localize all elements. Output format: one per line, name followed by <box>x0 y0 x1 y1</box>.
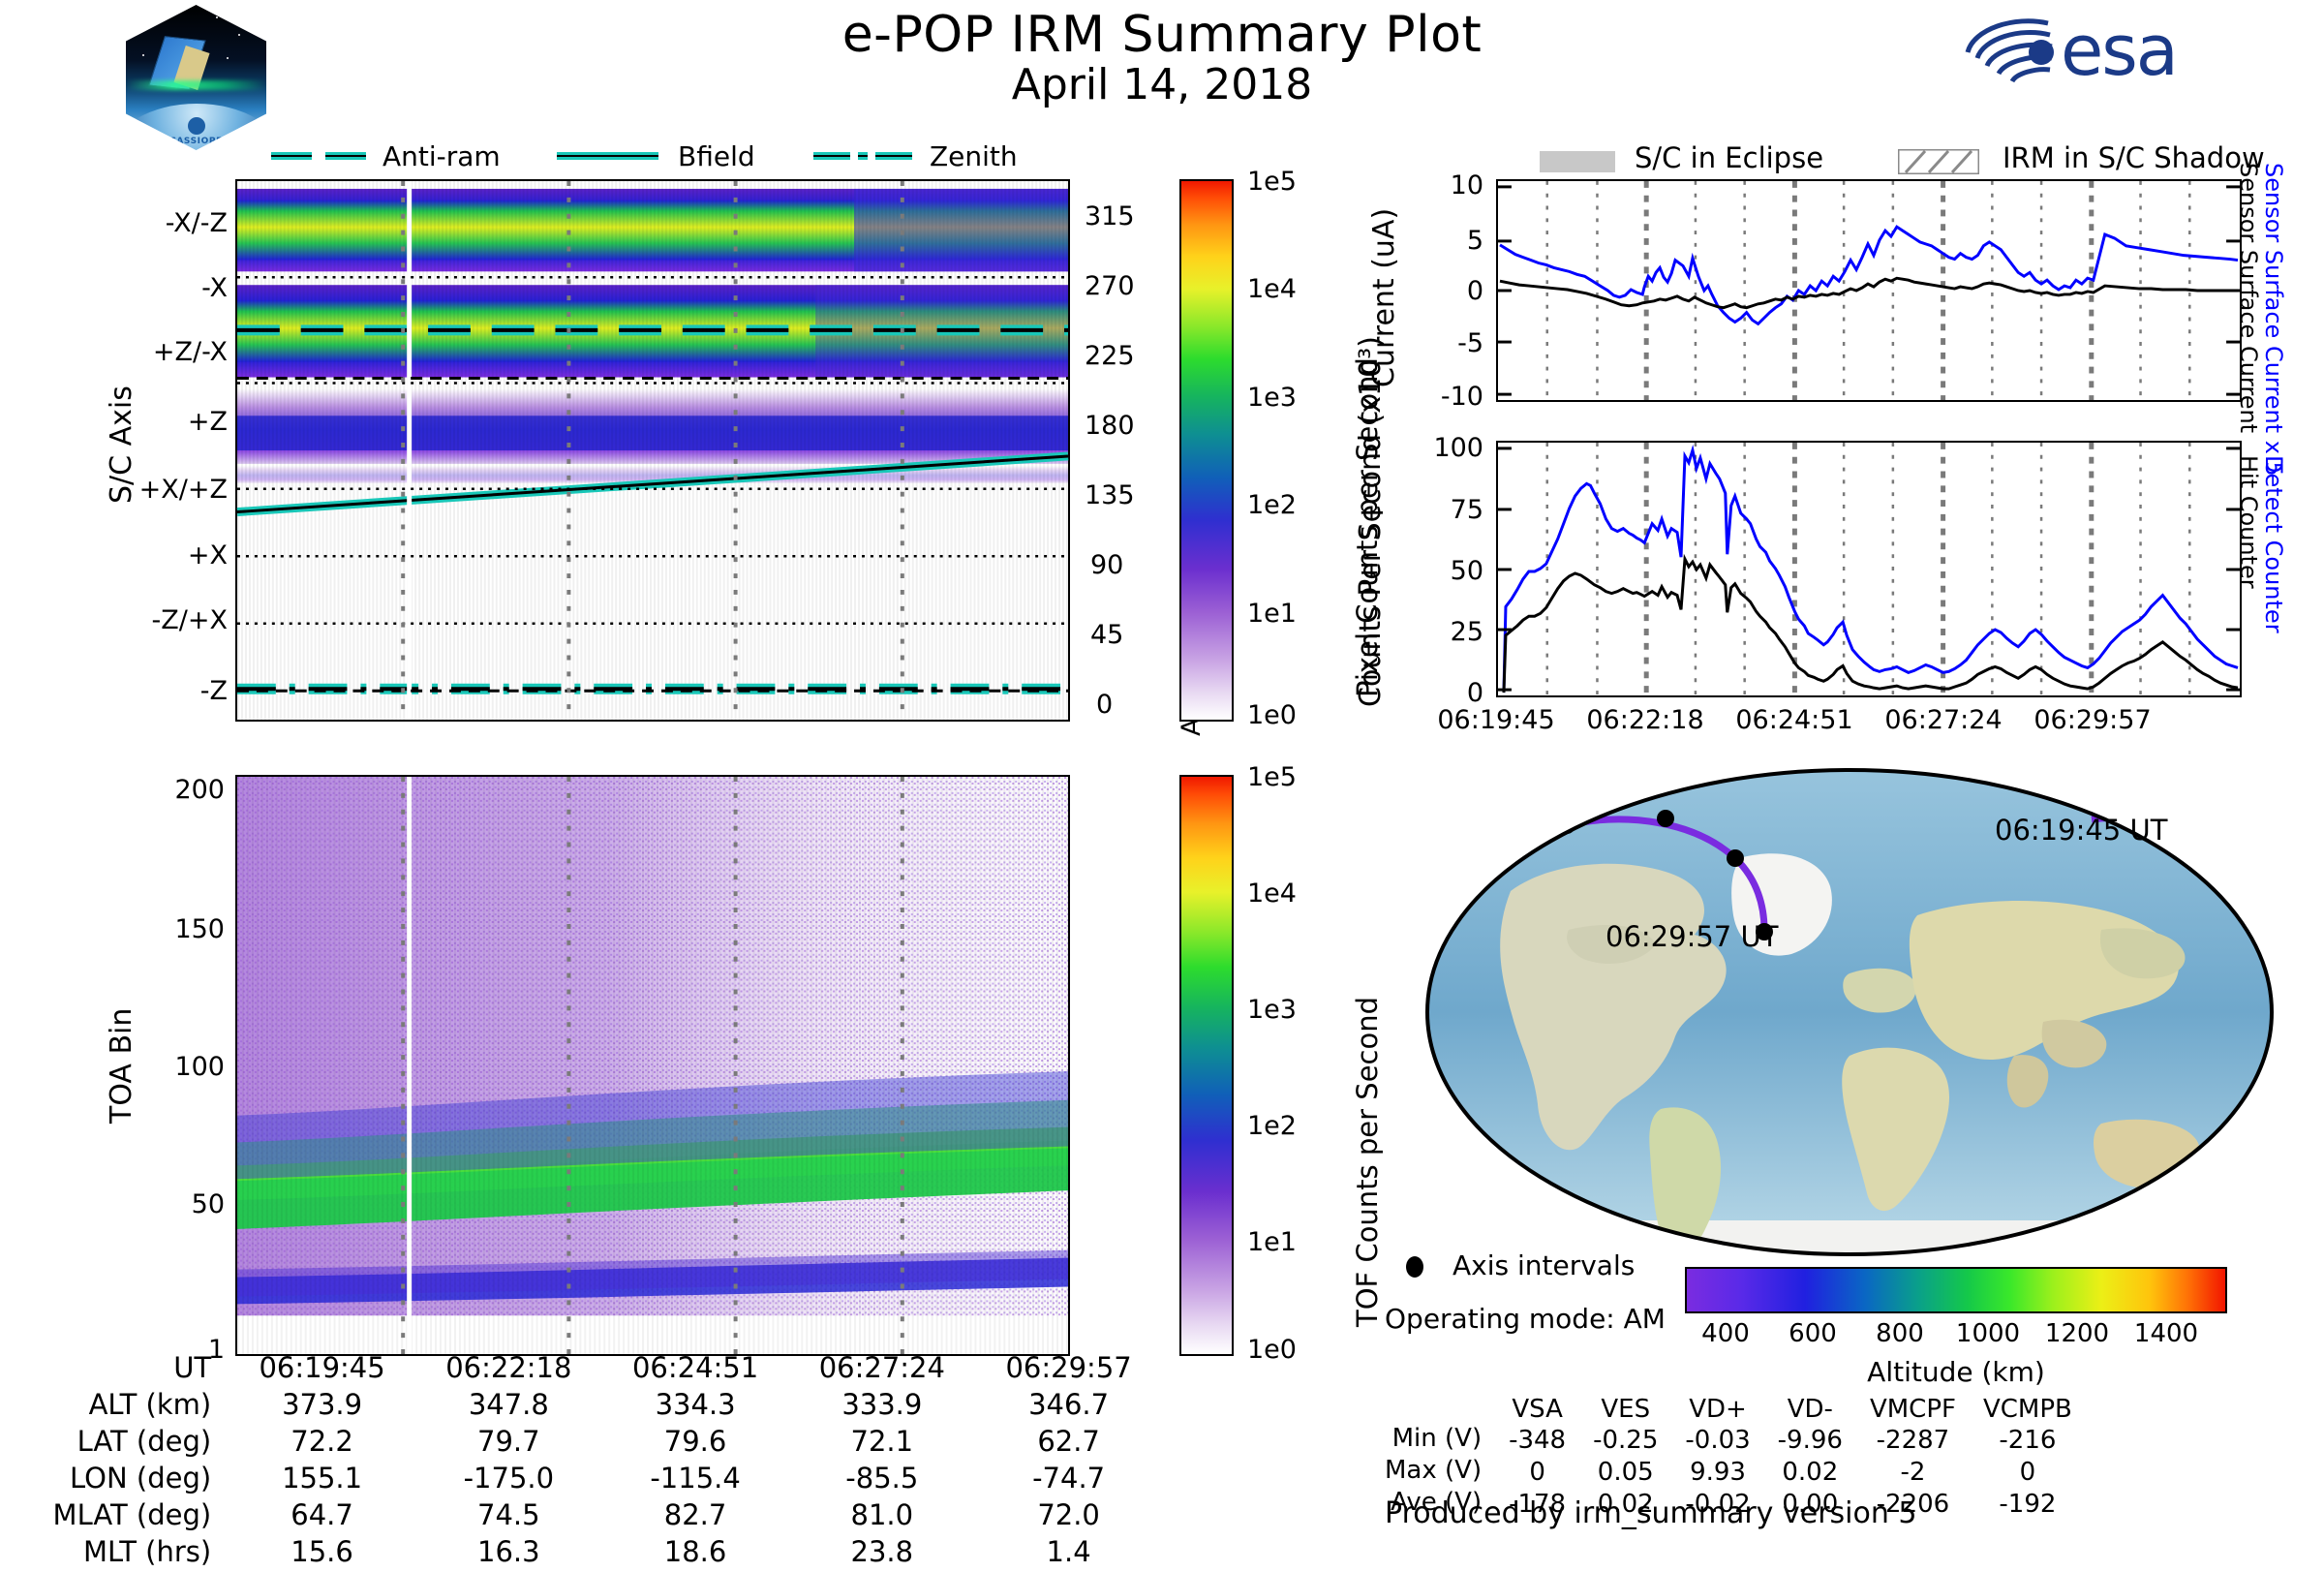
cell: 334.3 <box>602 1388 789 1425</box>
legend-swatch-zenith <box>813 152 850 160</box>
cell: 72.0 <box>975 1498 1162 1535</box>
legend-swatch-irm-shadow <box>1898 149 1979 174</box>
altitude-colorbar-label: Altitude (km) <box>1782 1356 2130 1388</box>
cell: -0.03 <box>1671 1424 1763 1456</box>
altitude-tick: 1400 <box>2123 1319 2210 1348</box>
cell: 81.0 <box>788 1498 975 1535</box>
altitude-tick: 600 <box>1774 1319 1851 1348</box>
cell: 72.1 <box>788 1425 975 1462</box>
page-subtitle: April 14, 2018 <box>678 60 1646 109</box>
cassiope-logo: CASSIOPE <box>126 5 266 150</box>
cell: 23.8 <box>788 1535 975 1572</box>
cell: 9.93 <box>1671 1456 1763 1488</box>
cell: -2 <box>1856 1456 1970 1488</box>
colorbarB-tick: 1e4 <box>1247 878 1297 909</box>
panelC-ytick-label: 10 <box>1394 170 1483 200</box>
cell: 62.7 <box>975 1425 1162 1462</box>
colorbarA-tick: 1e4 <box>1247 274 1297 304</box>
cell: 0 <box>1970 1456 2086 1488</box>
panelD-right-label-blue: Detect Counter <box>2260 455 2287 633</box>
panelB-ytick-label: 50 <box>116 1189 225 1219</box>
ephemeris-table: UT 06:19:45 06:22:18 06:24:51 06:27:24 0… <box>19 1351 1162 1572</box>
operating-mode-label: Operating mode: AM <box>1385 1303 1666 1335</box>
cell: 15.6 <box>229 1535 415 1572</box>
sc-axis-spectrogram <box>235 179 1070 722</box>
panelD-ytick-label: 75 <box>1373 495 1483 525</box>
panelA-right-ytick-label: 225 <box>1085 341 1135 371</box>
table-row: MLT (hrs) 15.6 16.3 18.6 23.8 1.4 <box>19 1535 1162 1572</box>
counts-per-second-plot <box>1496 441 2242 697</box>
page-title: e-POP IRM Summary Plot <box>678 6 1646 64</box>
cell: 18.6 <box>602 1535 789 1572</box>
altitude-tick: 1200 <box>2033 1319 2121 1348</box>
cell: 06:24:51 <box>602 1351 789 1388</box>
legend-label-zenith: Zenith <box>930 140 1018 172</box>
cell: 346.7 <box>975 1388 1162 1425</box>
panelC-ytick-label: -5 <box>1394 328 1483 358</box>
colorbarB-tick: 1e3 <box>1247 995 1297 1025</box>
legend-swatch-bfield <box>557 152 658 160</box>
panelA-heatmap <box>237 181 1068 720</box>
row-label-min: Min (V) <box>1385 1424 1495 1456</box>
panelD-xtick-label: 06:24:51 <box>1707 705 1881 735</box>
cell: 347.8 <box>415 1388 602 1425</box>
cell: 0.02 <box>1764 1456 1856 1488</box>
panelD-xtick-label: 06:19:45 <box>1409 705 1583 735</box>
panelA-ytick-label: +Z <box>97 407 228 437</box>
colorbarA-tick: 1e1 <box>1247 599 1297 629</box>
colorbarA-tick: 1e5 <box>1247 167 1297 197</box>
colorbarB-label: TOF Counts per Second <box>1351 997 1384 1327</box>
cell: 06:22:18 <box>415 1351 602 1388</box>
table-row: LON (deg) 155.1 -175.0 -115.4 -85.5 -74.… <box>19 1462 1162 1498</box>
map-annotation-end: 06:29:57 UT <box>1605 920 1778 953</box>
legend-label-irm-shadow: IRM in S/C Shadow <box>2003 141 2265 174</box>
table-row: UT 06:19:45 06:22:18 06:24:51 06:27:24 0… <box>19 1351 1162 1388</box>
panelA-right-ytick-label: 90 <box>1090 550 1123 580</box>
row-label-lon: LON (deg) <box>19 1462 229 1498</box>
map-annotation-start: 06:19:45 UT <box>1995 814 2167 847</box>
panelA-ytick-label: +Z/-X <box>97 337 228 367</box>
panelB-ytick-label: 200 <box>116 775 225 805</box>
panelB-heatmap <box>237 777 1068 1354</box>
table-row: Max (V) 0 0.05 9.93 0.02 -2 0 <box>1385 1456 2086 1488</box>
panelD-xtick-label: 06:22:18 <box>1558 705 1732 735</box>
legend-label-eclipse: S/C in Eclipse <box>1635 141 1823 174</box>
panelD-ytick-label: 50 <box>1373 556 1483 586</box>
row-label-ut: UT <box>19 1351 229 1388</box>
panelA-right-ytick-label: 135 <box>1085 480 1135 510</box>
row-label-alt: ALT (km) <box>19 1388 229 1425</box>
colorbarA-tick: 1e2 <box>1247 490 1297 520</box>
cell: -2287 <box>1856 1424 1970 1456</box>
colorbarB-tick: 1e2 <box>1247 1111 1297 1141</box>
esa-logo-text: esa <box>2061 10 2177 91</box>
cell: 333.9 <box>788 1388 975 1425</box>
cell: -9.96 <box>1764 1424 1856 1456</box>
panelA-right-ytick-label: 180 <box>1085 411 1135 441</box>
cell: -85.5 <box>788 1462 975 1498</box>
legend-label-anti-ram: Anti-ram <box>382 140 501 172</box>
panelC-right-label-black: Sensor Surface Current <box>2235 163 2262 433</box>
panelD-ytick-label: 25 <box>1373 617 1483 647</box>
cell: 82.7 <box>602 1498 789 1535</box>
cell: 16.3 <box>415 1535 602 1572</box>
col-header-vsa: VSA <box>1495 1395 1579 1424</box>
panelA-ytick-label: +X <box>97 540 228 570</box>
ground-track-map: 06:19:45 UT 06:29:57 UT <box>1423 765 2276 1259</box>
cell: 06:19:45 <box>229 1351 415 1388</box>
cell: -115.4 <box>602 1462 789 1498</box>
altitude-colorbar <box>1685 1267 2227 1313</box>
row-label-mlat: MLAT (deg) <box>19 1498 229 1535</box>
table-row: ALT (km) 373.9 347.8 334.3 333.9 346.7 <box>19 1388 1162 1425</box>
panelD-series <box>1498 443 2240 695</box>
table-header-row: VSA VES VD+ VD- VMCPF VCMPB <box>1385 1395 2086 1424</box>
esa-logo: esa <box>1956 8 2247 97</box>
panelA-ytick-label: -X/-Z <box>97 208 228 238</box>
axis-intervals-label: Axis intervals <box>1452 1249 1635 1281</box>
panelA-ytick-label: -X <box>97 273 228 303</box>
panelC-ytick-label: 5 <box>1394 226 1483 256</box>
panelD-ytick-label: 100 <box>1373 433 1483 463</box>
table-row: LAT (deg) 72.2 79.7 79.6 72.1 62.7 <box>19 1425 1162 1462</box>
panelA-right-ytick-label: 270 <box>1085 271 1135 301</box>
panelC-right-label-blue: Sensor Surface Current x 5 <box>2260 163 2287 477</box>
toa-bin-spectrogram <box>235 775 1070 1356</box>
panelA-ytick-label: +X/+Z <box>97 475 228 505</box>
panelA-right-ytick-label: 315 <box>1085 201 1135 231</box>
cell: 06:29:57 <box>975 1351 1162 1388</box>
cell: 0 <box>1495 1456 1579 1488</box>
panelA-right-ytick-label: 0 <box>1096 690 1113 720</box>
cell: 64.7 <box>229 1498 415 1535</box>
row-label-max: Max (V) <box>1385 1456 1495 1488</box>
cell: 0.05 <box>1579 1456 1671 1488</box>
legend-swatch-anti-ram <box>271 152 312 160</box>
cell: 72.2 <box>229 1425 415 1462</box>
table-row: Min (V) -348 -0.25 -0.03 -9.96 -2287 -21… <box>1385 1424 2086 1456</box>
panelB-ytick-label: 100 <box>116 1052 225 1082</box>
sensor-surface-current-plot <box>1496 179 2242 402</box>
altitude-tick: 1000 <box>1944 1319 2032 1348</box>
row-label-lat: LAT (deg) <box>19 1425 229 1462</box>
col-header-vdminus: VD- <box>1764 1395 1856 1424</box>
pixel-counts-colorbar <box>1179 179 1234 722</box>
colorbarA-tick: 1e0 <box>1247 700 1297 730</box>
col-header-vdplus: VD+ <box>1671 1395 1763 1424</box>
tof-counts-colorbar <box>1179 775 1234 1356</box>
panelD-xtick-label: 06:29:57 <box>2005 705 2180 735</box>
panelC-series <box>1498 181 2240 400</box>
esa-swoosh-icon <box>1956 14 2057 91</box>
panelA-right-ytick-label: 45 <box>1090 620 1123 650</box>
legend-swatch-eclipse <box>1540 151 1615 172</box>
panelC-ytick-label: 0 <box>1394 276 1483 306</box>
panelD-ytick-label: 0 <box>1373 678 1483 708</box>
axis-intervals-marker-icon <box>1406 1256 1423 1278</box>
altitude-tick: 800 <box>1861 1319 1939 1348</box>
panelB-ytick-label: 150 <box>116 914 225 944</box>
colorbarB-tick: 1e5 <box>1247 762 1297 792</box>
col-header-vmcpf: VMCPF <box>1856 1395 1970 1424</box>
cell: 74.5 <box>415 1498 602 1535</box>
cassiope-logo-caption: CASSIOPE <box>126 137 266 146</box>
panelA-ytick-label: -Z <box>97 676 228 706</box>
col-header-vcmpb: VCMPB <box>1970 1395 2086 1424</box>
cell: 79.7 <box>415 1425 602 1462</box>
cell: -216 <box>1970 1424 2086 1456</box>
cell: 1.4 <box>975 1535 1162 1572</box>
panelD-xtick-label: 06:27:24 <box>1856 705 2031 735</box>
cell: 79.6 <box>602 1425 789 1462</box>
cell: 06:27:24 <box>788 1351 975 1388</box>
table-row: MLAT (deg) 64.7 74.5 82.7 81.0 72.0 <box>19 1498 1162 1535</box>
produced-by-label: Produced by irm_summary version 5 <box>1385 1496 1916 1530</box>
panelA-ytick-label: -Z/+X <box>97 605 228 635</box>
cell: 155.1 <box>229 1462 415 1498</box>
altitude-tick: 400 <box>1687 1319 1764 1348</box>
cell: -348 <box>1495 1424 1579 1456</box>
cell: 373.9 <box>229 1388 415 1425</box>
sc-overlay-legend: Anti-ram Bfield Zenith <box>271 140 949 173</box>
row-label-mlt: MLT (hrs) <box>19 1535 229 1572</box>
cell: -0.25 <box>1579 1424 1671 1456</box>
cell: -192 <box>1970 1488 2086 1520</box>
legend-label-bfield: Bfield <box>678 140 755 172</box>
col-header-ves: VES <box>1579 1395 1671 1424</box>
eclipse-legend: S/C in Eclipse IRM in S/C Shadow <box>1540 143 2276 178</box>
panelC-ytick-label: -10 <box>1394 382 1483 412</box>
colorbarB-tick: 1e0 <box>1247 1335 1297 1365</box>
cell: -74.7 <box>975 1462 1162 1498</box>
cell: -175.0 <box>415 1462 602 1498</box>
panelD-right-label-black: Hit Counter <box>2235 455 2262 589</box>
colorbarA-tick: 1e3 <box>1247 383 1297 413</box>
colorbarB-tick: 1e1 <box>1247 1227 1297 1257</box>
